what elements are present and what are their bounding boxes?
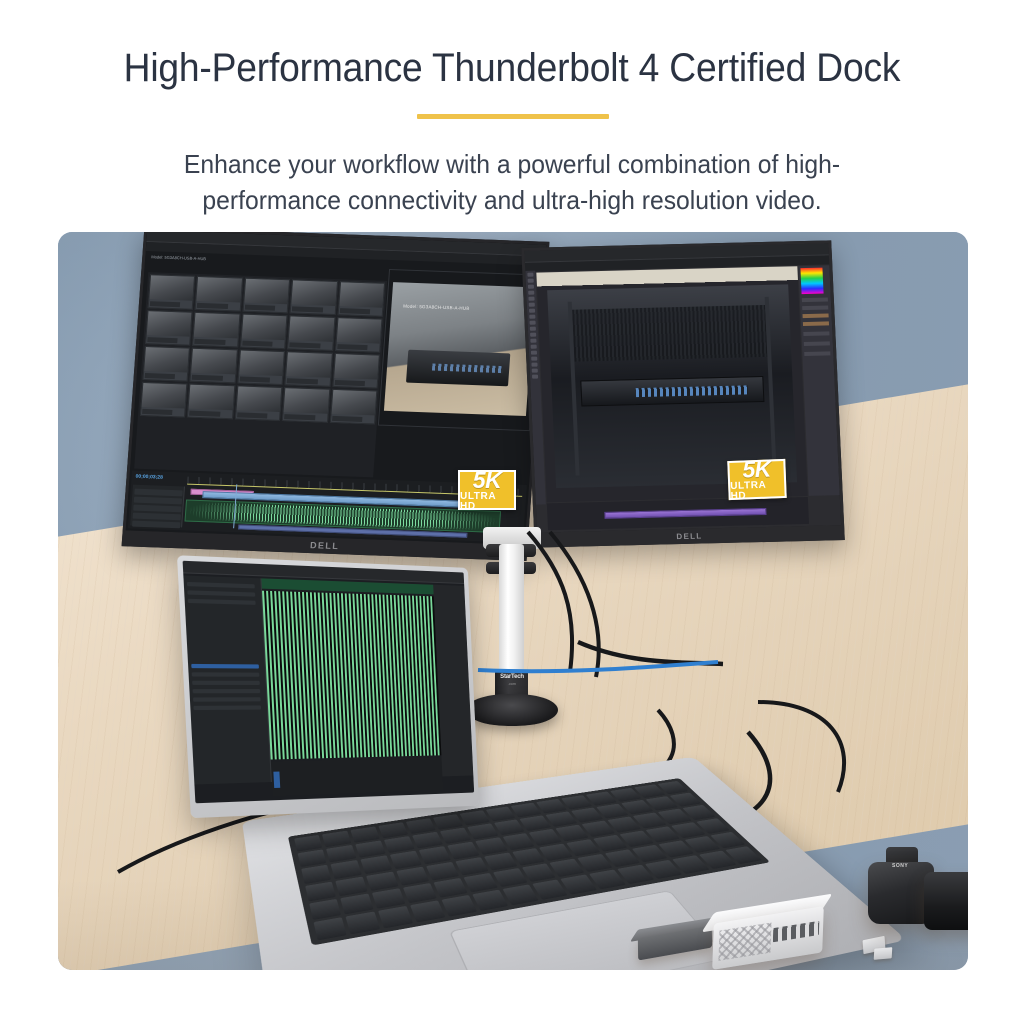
transport-playhead[interactable] xyxy=(274,772,281,788)
media-thumbnail[interactable] xyxy=(143,346,191,382)
video-editor-project-tab: Model: 5G3A8CH-USB-A-HUB xyxy=(151,254,206,261)
media-thumbnail[interactable] xyxy=(338,281,386,317)
dock-ports xyxy=(773,921,819,942)
timeline-timecode: 00;00;03;28 xyxy=(135,474,163,481)
media-thumbnail[interactable] xyxy=(235,385,283,421)
timeline-clip-bar[interactable] xyxy=(605,508,767,519)
media-thumbnail[interactable] xyxy=(335,317,383,353)
program-monitor-frame: Model: 5G3A8CH-USB-A-HUB xyxy=(384,282,535,415)
canvas-image-patch-panel xyxy=(581,376,765,406)
badge-resolution: 5K xyxy=(473,469,501,492)
media-thumbnail[interactable] xyxy=(148,274,196,310)
program-monitor-caption: Model: 5G3A8CH-USB-A-HUB xyxy=(403,303,470,310)
program-monitor-subject xyxy=(406,350,510,387)
audio-waveform-display[interactable] xyxy=(262,591,441,760)
startech-brand-suffix: .com xyxy=(498,682,526,686)
waveform-channel-right xyxy=(267,675,442,759)
monitor-right-brand: DELL xyxy=(676,532,702,542)
audio-editor-files-panel[interactable] xyxy=(183,575,272,784)
media-thumbnail[interactable] xyxy=(187,384,235,420)
media-thumbnail[interactable] xyxy=(193,312,241,348)
page-root: High-Performance Thunderbolt 4 Certified… xyxy=(0,0,1024,1024)
monitor-right-screen xyxy=(524,243,841,532)
media-thumbnail[interactable] xyxy=(237,349,285,385)
media-thumbnail[interactable] xyxy=(240,314,288,350)
video-editor-program-monitor: Model: 5G3A8CH-USB-A-HUB xyxy=(378,269,541,431)
media-thumbnail[interactable] xyxy=(285,351,333,387)
page-subtitle: Enhance your workflow with a powerful co… xyxy=(132,146,892,218)
media-thumbnail[interactable] xyxy=(190,348,238,384)
media-thumbnail[interactable] xyxy=(243,278,291,314)
media-thumbnail[interactable] xyxy=(282,387,330,423)
dock-vent-grille xyxy=(718,922,771,960)
color-picker-panel[interactable] xyxy=(800,268,823,295)
page-title: High-Performance Thunderbolt 4 Certified… xyxy=(36,46,988,91)
startech-brand-label: StarTech xyxy=(498,674,526,680)
badge-resolution: 5K xyxy=(742,457,771,481)
title-divider xyxy=(417,114,609,119)
micro-sd-card xyxy=(874,947,893,960)
badge-quality: ULTRA HD xyxy=(460,492,514,512)
audio-editor-transport[interactable] xyxy=(271,757,443,796)
monitor-right: DELL xyxy=(521,240,845,547)
media-thumbnail[interactable] xyxy=(332,353,380,389)
media-thumbnail[interactable] xyxy=(145,310,193,346)
camera-brand-label: SONY xyxy=(892,863,908,869)
media-thumbnail[interactable] xyxy=(140,382,188,418)
badge-5k-left: 5K ULTRA HD xyxy=(458,470,516,510)
monitor-stand-base xyxy=(466,694,558,726)
media-thumbnail[interactable] xyxy=(195,276,243,312)
monitor-left-brand: DELL xyxy=(310,540,340,551)
laptop-lid xyxy=(177,555,479,818)
media-thumbnail[interactable] xyxy=(330,389,378,425)
media-thumbnail[interactable] xyxy=(287,315,335,351)
video-editor-media-bin xyxy=(134,272,387,477)
product-photo: Model: 5G3A8CH-USB-A-HUB xyxy=(58,232,968,970)
timeline-track-headers[interactable] xyxy=(130,485,185,528)
monitor-left: Model: 5G3A8CH-USB-A-HUB xyxy=(122,232,550,561)
laptop-screen[interactable] xyxy=(183,561,475,804)
badge-quality: ULTRA HD xyxy=(730,480,785,502)
waveform-channel-left xyxy=(262,591,437,676)
camera-lens xyxy=(924,872,968,930)
photo-editor-timeline[interactable] xyxy=(547,497,809,530)
badge-5k-right: 5K ULTRA HD xyxy=(727,459,786,500)
media-thumbnail[interactable] xyxy=(290,279,338,315)
